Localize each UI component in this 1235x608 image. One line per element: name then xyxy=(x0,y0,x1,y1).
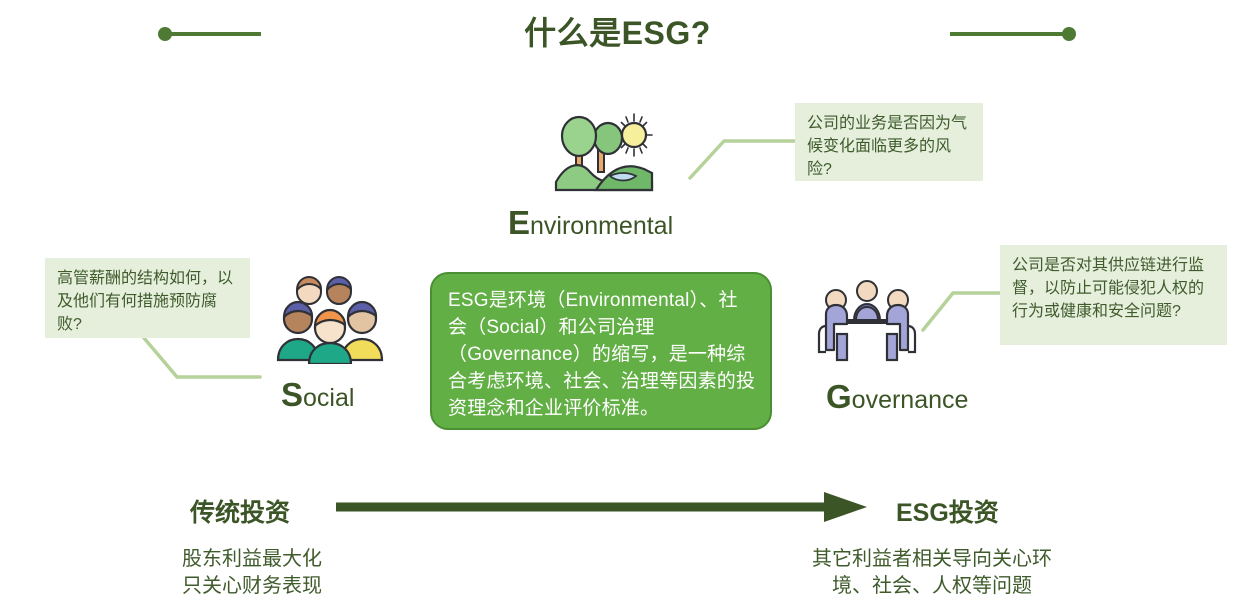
esg-definition-card: ESG是环境（Environmental）、社会（Social）和公司治理（Go… xyxy=(430,272,772,430)
traditional-line-2: 只关心财务表现 xyxy=(182,573,322,600)
pillar-initial-s: S xyxy=(281,376,303,413)
traditional-investment-description: 股东利益最大化 只关心财务表现 xyxy=(182,546,322,600)
people-group-icon xyxy=(276,272,384,364)
esg-investment-heading: ESG投资 xyxy=(896,493,999,529)
pillar-initial-e: E xyxy=(508,204,530,241)
traditional-line-1: 股东利益最大化 xyxy=(182,546,322,573)
pillar-rest-environmental: nvironmental xyxy=(530,212,673,240)
connector-environmental xyxy=(680,100,810,195)
header-rule-left xyxy=(168,32,261,36)
pillar-rest-governance: overnance xyxy=(852,386,969,414)
esg-investment-description: 其它利益者相关导向关心环 境、社会、人权等问题 xyxy=(812,546,1052,600)
connector-social xyxy=(120,330,280,400)
callout-environmental: 公司的业务是否因为气候变化面临更多的风险? xyxy=(795,103,983,181)
nature-landscape-icon xyxy=(548,104,660,196)
page-title: 什么是ESG? xyxy=(330,8,905,54)
pillar-label-social: Social xyxy=(281,378,354,411)
esg-line-1: 其它利益者相关导向关心环 xyxy=(812,546,1052,573)
pillar-rest-social: ocial xyxy=(303,384,354,412)
pillar-initial-g: G xyxy=(826,378,852,415)
pillar-label-environmental: Environmental xyxy=(508,206,673,239)
traditional-investment-heading: 传统投资 xyxy=(190,493,290,529)
esg-line-2: 境、社会、人权等问题 xyxy=(812,573,1052,600)
infographic-canvas: 什么是ESG? xyxy=(0,0,1235,608)
header-rule-right xyxy=(950,32,1065,36)
callout-governance: 公司是否对其供应链进行监督，以防止可能侵犯人权的行为或健康和安全问题? xyxy=(1000,245,1227,345)
callout-social: 高管薪酬的结构如何，以及他们有何措施预防腐败? xyxy=(45,258,250,338)
boardroom-meeting-icon xyxy=(812,276,922,366)
header-dot-left-icon xyxy=(158,27,172,41)
header-dot-right-icon xyxy=(1062,27,1076,41)
transition-arrow-icon xyxy=(334,490,869,524)
pillar-label-governance: Governance xyxy=(826,380,968,413)
